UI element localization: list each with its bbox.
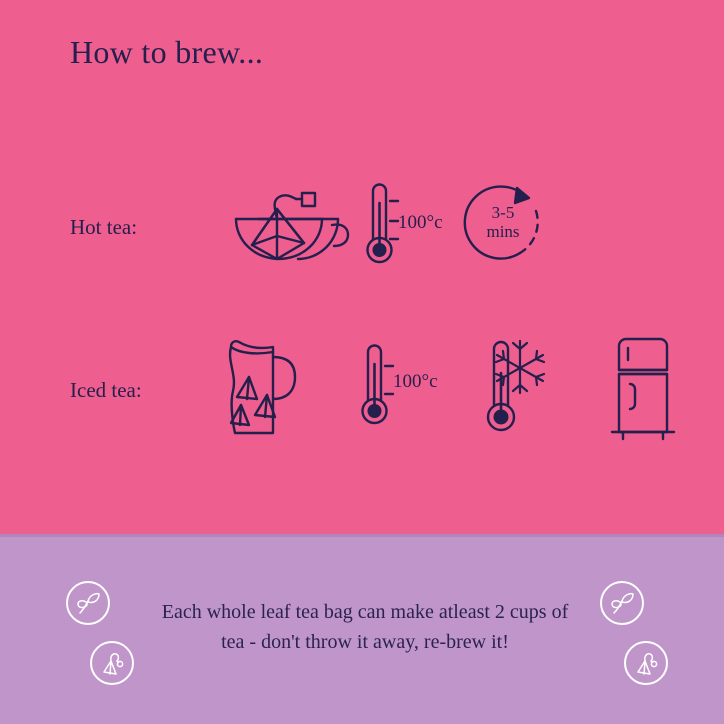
- thermometer-snowflake-icon: [482, 333, 602, 453]
- refrigerator-icon: [603, 330, 723, 450]
- row-label-iced-tea: Iced tea:: [70, 378, 142, 403]
- teabag-badge-right: [624, 641, 668, 685]
- teacup-with-teabag-icon: [222, 183, 342, 303]
- leaf-icon: [76, 591, 102, 617]
- temperature-label-iced: 100°c: [393, 371, 438, 393]
- page-title: How to brew...: [70, 34, 263, 71]
- brew-row-hot-tea: Hot tea:: [0, 167, 724, 287]
- temperature-label-hot: 100°c: [398, 212, 443, 234]
- leaf-icon: [610, 591, 636, 617]
- leaf-badge-right: [600, 581, 644, 625]
- timer-step-hot: 3-5 mins: [462, 181, 582, 301]
- brew-instructions-poster: How to brew... Hot tea:: [0, 0, 724, 724]
- teabag-badge-left: [90, 641, 134, 685]
- footer-message: Each whole leaf tea bag can make atleast…: [150, 597, 580, 657]
- teabag-icon: [634, 651, 660, 677]
- timer-label: 3-5 mins: [462, 203, 544, 241]
- pitcher-with-teabags-icon: [205, 333, 325, 453]
- leaf-badge-left: [66, 581, 110, 625]
- row-label-hot-tea: Hot tea:: [70, 215, 137, 240]
- teabag-icon: [100, 651, 126, 677]
- timer-label-line1: 3-5: [462, 203, 544, 222]
- thermometer-step-iced: 100°c: [357, 338, 477, 458]
- footer-band: Each whole leaf tea bag can make atleast…: [0, 534, 724, 724]
- timer-label-line2: mins: [462, 222, 544, 241]
- thermometer-icon: [357, 338, 391, 434]
- brew-row-iced-tea: Iced tea:: [0, 330, 724, 450]
- thermometer-icon: [362, 177, 396, 273]
